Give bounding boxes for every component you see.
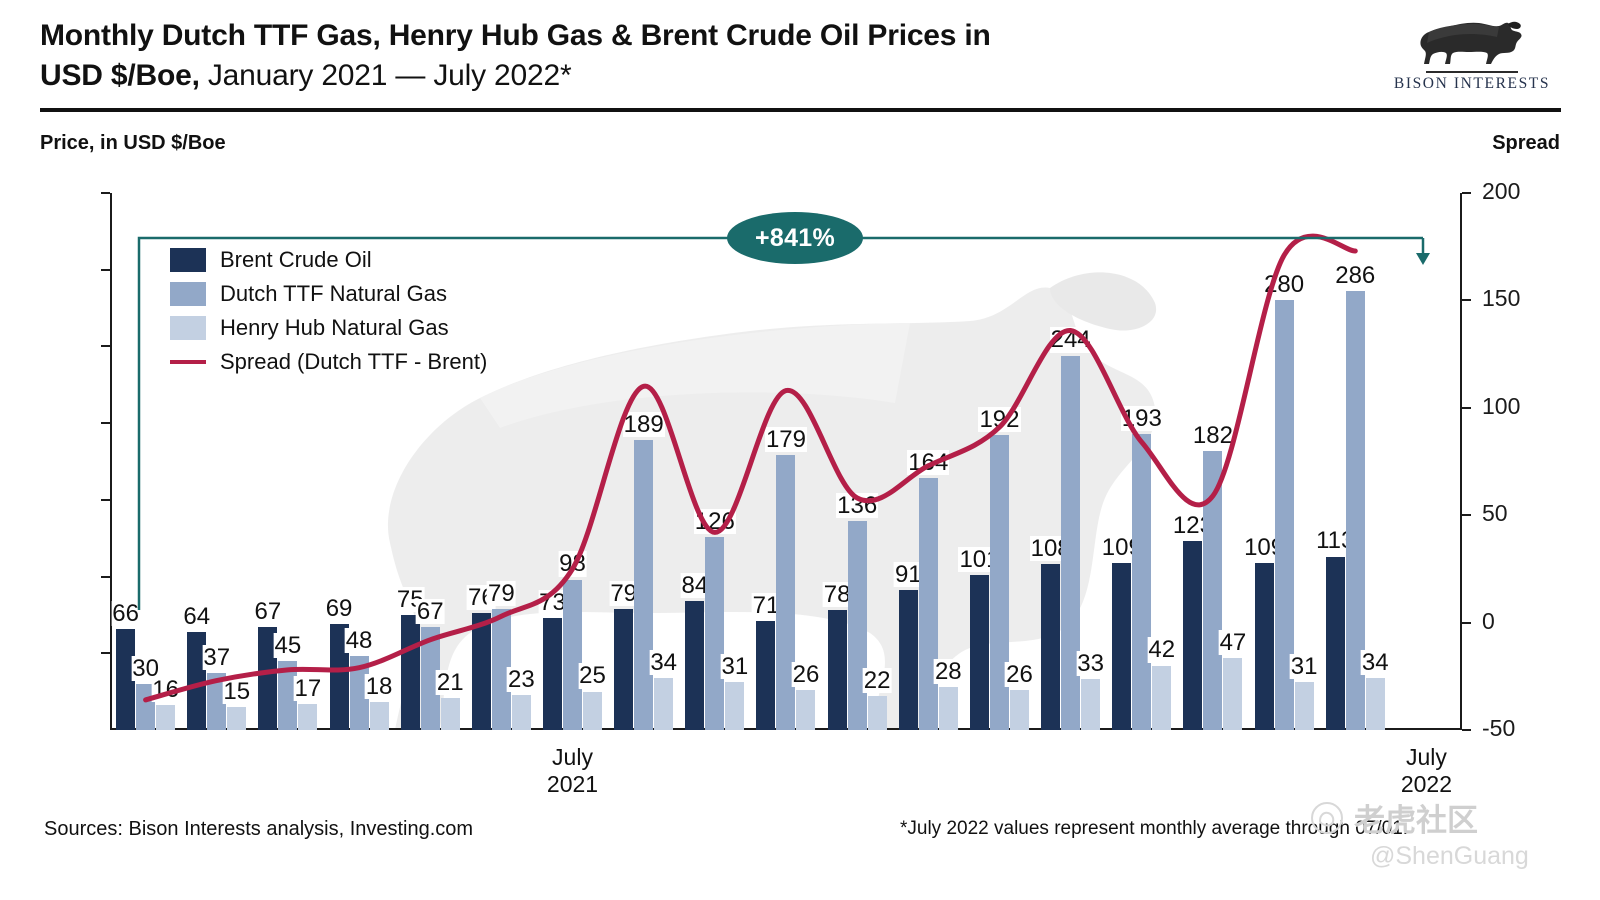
y-tick-left: [101, 499, 110, 501]
logo-wordmark: BISON INTERESTS: [1382, 75, 1562, 93]
x-tick-label: July2022: [1401, 744, 1452, 798]
y-tick-left: [101, 576, 110, 578]
title-line-1: Monthly Dutch TTF Gas, Henry Hub Gas & B…: [40, 19, 991, 52]
right-axis-caption: Spread: [1492, 132, 1560, 155]
arrow-right-icon: [139, 238, 1423, 610]
y-tick-left: [101, 345, 110, 347]
y-tick-right: [1462, 514, 1471, 516]
y-tick-right: [1462, 299, 1471, 301]
chart-plot-area: 6630166437156745176948187567217679237398…: [110, 193, 1462, 730]
y-tick-right: [1462, 407, 1471, 409]
y-tick-left: [101, 422, 110, 424]
annotation-arrow: [110, 193, 1462, 730]
x-tick-label: July2021: [547, 744, 598, 798]
y-tick-label-right: 50: [1482, 500, 1600, 527]
community-watermark: 老虎社区: [1310, 795, 1478, 840]
tiger-circle-icon: [1310, 801, 1344, 835]
y-tick-right: [1462, 192, 1471, 194]
x-tick-label-month: July: [1401, 744, 1452, 771]
arrow-head-icon: [1416, 253, 1430, 265]
sources-footnote: Sources: Bison Interests analysis, Inves…: [44, 818, 473, 841]
y-tick-label-right: 0: [1482, 608, 1600, 635]
y-tick-left: [101, 269, 110, 271]
y-tick-left: [101, 652, 110, 654]
bison-interests-logo: BISON INTERESTS: [1382, 12, 1562, 104]
logo-divider: [1426, 71, 1518, 73]
title-divider: [40, 108, 1561, 112]
title-line-2-regular: January 2021 — July 2022*: [200, 59, 572, 92]
community-watermark-text: 老虎社区: [1354, 795, 1478, 840]
handle-watermark: @ShenGuang: [1370, 842, 1529, 871]
y-tick-left: [101, 192, 110, 194]
annotation-badge: +841%: [727, 212, 863, 264]
y-tick-label-right: 200: [1482, 178, 1600, 205]
y-tick-label-right: 150: [1482, 285, 1600, 312]
x-tick-label-year: 2021: [547, 771, 598, 798]
y-tick-label-right: -50: [1482, 715, 1600, 742]
y-tick-right: [1462, 622, 1471, 624]
left-axis-caption: Price, in USD $/Boe: [40, 132, 226, 155]
chart-header: Monthly Dutch TTF Gas, Henry Hub Gas & B…: [0, 0, 1600, 112]
y-tick-right: [1462, 729, 1471, 731]
title-line-2-bold: USD $/Boe,: [40, 59, 200, 92]
page-title: Monthly Dutch TTF Gas, Henry Hub Gas & B…: [40, 16, 1360, 96]
bison-icon: [1413, 12, 1531, 70]
x-tick-label-month: July: [547, 744, 598, 771]
y-tick-label-right: 100: [1482, 393, 1600, 420]
